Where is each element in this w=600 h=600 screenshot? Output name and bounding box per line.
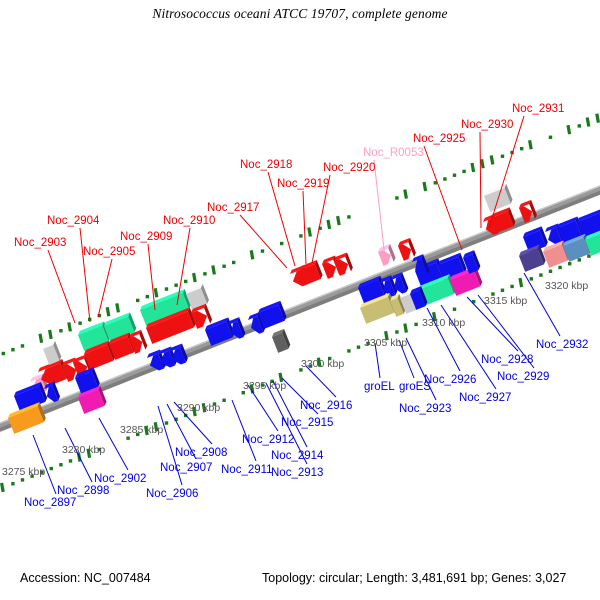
gene-label-noc_2916[interactable]: Noc_2916 bbox=[300, 401, 352, 413]
kbp-tick-3290: 3290 kbp bbox=[177, 403, 220, 414]
gene-label-noc_2915[interactable]: Noc_2915 bbox=[281, 418, 333, 430]
gene-label-noc_2907[interactable]: Noc_2907 bbox=[160, 463, 212, 475]
gene-label-noc_2909[interactable]: Noc_2909 bbox=[120, 232, 172, 244]
gene-label-noc_2926[interactable]: Noc_2926 bbox=[424, 375, 476, 387]
leader-line bbox=[148, 244, 155, 310]
leader-line bbox=[80, 228, 90, 322]
gene-label-noc_2914[interactable]: Noc_2914 bbox=[271, 451, 323, 463]
kbp-tick-3320: 3320 kbp bbox=[545, 281, 588, 292]
gene-label-noc_2930[interactable]: Noc_2930 bbox=[461, 120, 513, 132]
gene-label-noc_2932[interactable]: Noc_2932 bbox=[536, 340, 588, 352]
leader-line bbox=[232, 400, 256, 461]
gene-label-noc_2904[interactable]: Noc_2904 bbox=[47, 216, 99, 228]
gene-label-noc_2908[interactable]: Noc_2908 bbox=[175, 448, 227, 460]
footer-bar: Accession: NC_007484 Topology: circular;… bbox=[0, 571, 600, 591]
kbp-tick-3285: 3285 kbp bbox=[120, 425, 163, 436]
gene-label-noc_2928[interactable]: Noc_2928 bbox=[481, 355, 533, 367]
kbp-tick-3310: 3310 kbp bbox=[422, 318, 465, 329]
kbp-tick-3300: 3300 kbp bbox=[301, 359, 344, 370]
feature-darkgray-block bbox=[271, 329, 292, 353]
gene-label-noc_2913[interactable]: Noc_2913 bbox=[271, 468, 323, 480]
feature-red-arrow bbox=[333, 252, 354, 275]
feature-purple-block bbox=[518, 245, 547, 272]
gc-skew-track-upper bbox=[2, 113, 600, 355]
feature-red-arrow bbox=[397, 238, 417, 261]
gene-label-noc_2897[interactable]: Noc_2897 bbox=[24, 498, 76, 510]
kbp-tick-3275: 3275 kbp bbox=[2, 467, 45, 478]
gene-label-noc_2912[interactable]: Noc_2912 bbox=[242, 435, 294, 447]
kbp-tick-3280: 3280 kbp bbox=[62, 445, 105, 456]
gene-label-noc_2906[interactable]: Noc_2906 bbox=[146, 489, 198, 501]
leader-line bbox=[98, 259, 112, 317]
gene-label-noc_2927[interactable]: Noc_2927 bbox=[459, 393, 511, 405]
gene-label-noc_r0053[interactable]: Noc_R0053 bbox=[363, 148, 424, 160]
gene-label-noc_2923[interactable]: Noc_2923 bbox=[399, 404, 451, 416]
leader-line bbox=[424, 146, 462, 250]
kbp-tick-3315: 3315 kbp bbox=[484, 296, 527, 307]
leader-line bbox=[240, 215, 287, 268]
gene-label-noc_2925[interactable]: Noc_2925 bbox=[413, 134, 465, 146]
leader-line bbox=[480, 132, 481, 228]
genome-map-canvas: Nitrosococcus oceani ATCC 19707, complet… bbox=[0, 0, 600, 600]
gene-label-noc_2902[interactable]: Noc_2902 bbox=[94, 474, 146, 486]
gene-label-noc_2919[interactable]: Noc_2919 bbox=[277, 179, 329, 191]
leader-line bbox=[303, 191, 306, 264]
kbp-tick-3305: 3305 kbp bbox=[364, 338, 407, 349]
leader-line bbox=[374, 160, 385, 258]
gene-label-groel[interactable]: groEL bbox=[364, 382, 395, 394]
gene-label-noc_2898[interactable]: Noc_2898 bbox=[57, 486, 109, 498]
accession-text: Accession: NC_007484 bbox=[20, 571, 151, 585]
gene-label-noc_2911[interactable]: Noc_2911 bbox=[221, 465, 273, 477]
gene-label-noc_2929[interactable]: Noc_2929 bbox=[497, 372, 549, 384]
gene-label-noc_2917[interactable]: Noc_2917 bbox=[207, 203, 259, 215]
leader-line bbox=[33, 435, 56, 494]
gene-label-noc_2931[interactable]: Noc_2931 bbox=[512, 104, 564, 116]
feature-pink-arrow bbox=[377, 244, 397, 266]
topology-text: Topology: circular; Length: 3,481,691 bp… bbox=[262, 571, 566, 585]
gene-label-noc_2910[interactable]: Noc_2910 bbox=[163, 216, 215, 228]
leader-line bbox=[306, 366, 336, 397]
gene-label-noc_2905[interactable]: Noc_2905 bbox=[83, 247, 135, 259]
gene-label-noc_2903[interactable]: Noc_2903 bbox=[14, 238, 66, 250]
gene-label-noc_2918[interactable]: Noc_2918 bbox=[240, 160, 292, 172]
leader-line bbox=[48, 250, 75, 323]
kbp-tick-3295: 3295 kbp bbox=[243, 381, 286, 392]
gene-label-noc_2920[interactable]: Noc_2920 bbox=[323, 163, 375, 175]
